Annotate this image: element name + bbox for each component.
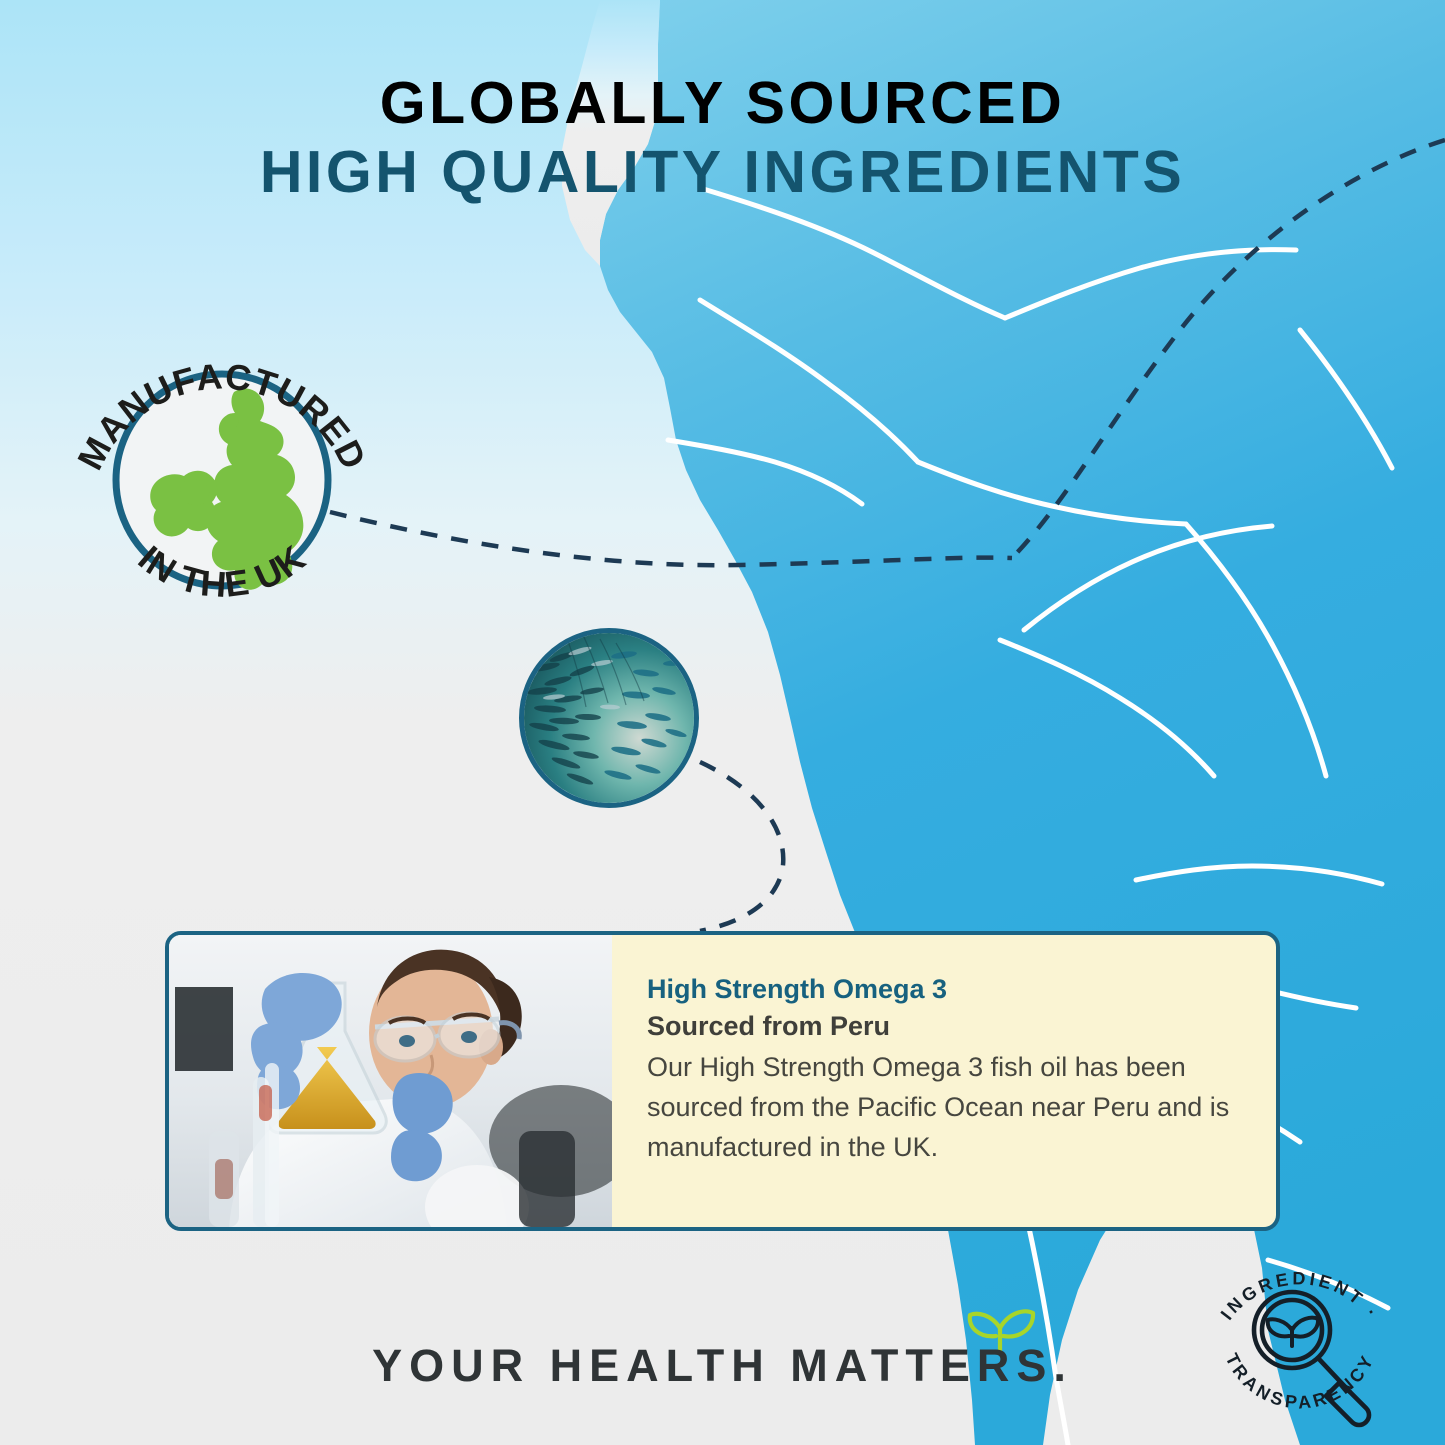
transparency-badge-graphic: INGREDIENT · · TRANSPARENCY ·: [1200, 1242, 1400, 1442]
headline-line-2: HIGH QUALITY INGREDIENTS: [0, 136, 1445, 210]
card-subtitle: Sourced from Peru: [647, 1008, 1236, 1045]
card-text-block: High Strength Omega 3 Sourced from Peru …: [612, 935, 1276, 1227]
lab-photo-graphic: [169, 935, 612, 1227]
headline-line-1: GLOBALLY SOURCED: [0, 70, 1445, 136]
badge-arc-top-text: INGREDIENT ·: [1217, 1268, 1384, 1323]
lab-scientist-flask-photo: [169, 935, 612, 1227]
tagline-text: YOUR HEALTH MATTERS.: [372, 1340, 1073, 1391]
page-title: GLOBALLY SOURCED HIGH QUALITY INGREDIENT…: [0, 70, 1445, 210]
school-of-fish-photo: [519, 628, 699, 808]
card-body-text: Our High Strength Omega 3 fish oil has b…: [647, 1048, 1236, 1168]
fish-photo-graphic: [524, 633, 694, 803]
card-title: High Strength Omega 3: [647, 971, 1236, 1008]
uk-badge-graphic: MANUFACTURED IN THE UK: [62, 320, 382, 640]
ingredient-transparency-badge: INGREDIENT · · TRANSPARENCY ·: [1200, 1242, 1400, 1442]
manufactured-in-uk-badge: MANUFACTURED IN THE UK: [62, 320, 382, 640]
infographic-poster: GLOBALLY SOURCED HIGH QUALITY INGREDIENT…: [0, 0, 1445, 1445]
omega3-info-card: High Strength Omega 3 Sourced from Peru …: [165, 931, 1280, 1231]
